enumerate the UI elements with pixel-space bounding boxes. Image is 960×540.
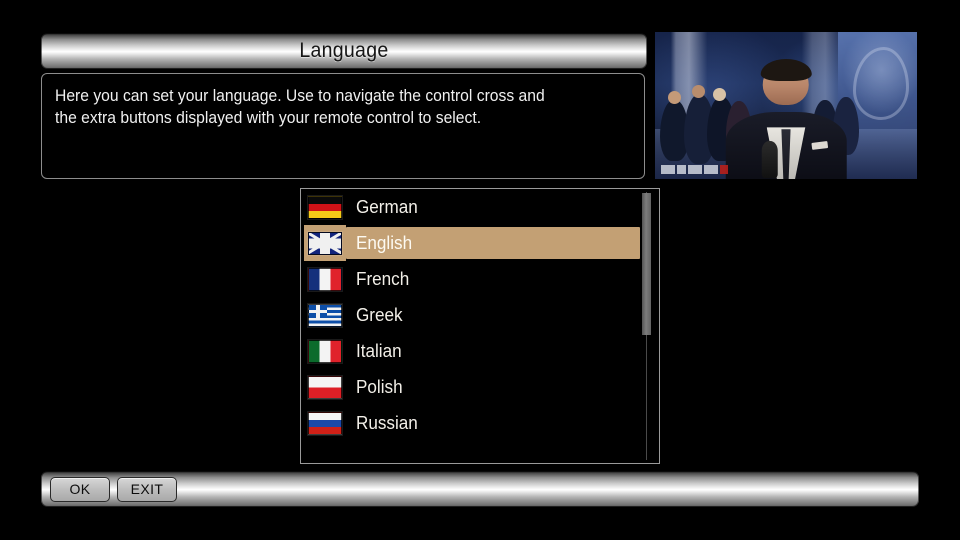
description-box: Here you can set your language. Use to n… [41, 73, 645, 179]
list-item-label: Russian [356, 413, 418, 434]
flag-it-icon [304, 333, 346, 369]
flag-gr-icon [304, 297, 346, 333]
page-title: Language [299, 39, 388, 63]
bug-segment [661, 165, 675, 174]
flag-gb-icon [304, 225, 346, 261]
video-subject-reporter [726, 88, 847, 179]
bug-segment [677, 165, 686, 174]
list-item[interactable]: French [301, 261, 645, 297]
bug-segment [688, 165, 702, 174]
list-item[interactable]: Russian [301, 405, 645, 441]
language-list-panel[interactable]: German English French [300, 188, 660, 464]
bug-segment-accent [720, 165, 728, 174]
ok-button-label: OK [69, 481, 90, 497]
flag-de-icon [304, 189, 346, 225]
list-item[interactable]: English [301, 225, 645, 261]
list-item-label: Polish [356, 377, 403, 398]
reporter-hair [761, 59, 812, 82]
list-item-label: French [356, 269, 409, 290]
scrollbar-thumb[interactable] [642, 193, 651, 335]
microphone-icon [762, 141, 778, 179]
softkey-bar: OK EXIT [41, 471, 919, 507]
list-item-label: Greek [356, 305, 403, 326]
list-item-label: English [356, 233, 412, 254]
reporter-pocket-square [811, 141, 827, 149]
description-text: Here you can set your language. Use to n… [55, 86, 602, 130]
list-item[interactable]: Polish [301, 369, 645, 405]
crowd-figure [713, 88, 726, 101]
video-preview[interactable] [655, 32, 917, 179]
exit-button[interactable]: EXIT [117, 477, 177, 502]
flag-pl-icon [304, 369, 346, 405]
channel-logo-bug [661, 164, 728, 175]
list-scrollbar[interactable] [642, 192, 651, 460]
exit-button-label: EXIT [131, 481, 164, 497]
flag-fr-icon [304, 261, 346, 297]
bug-segment [704, 165, 718, 174]
flag-ru-icon [304, 405, 346, 441]
crowd-figure [692, 85, 705, 98]
language-list: German English French [301, 189, 645, 441]
list-item-label: Italian [356, 341, 402, 362]
list-item-label: German [356, 197, 418, 218]
ok-button[interactable]: OK [50, 477, 110, 502]
title-bar: Language [41, 33, 647, 69]
list-item[interactable]: Greek [301, 297, 645, 333]
list-item[interactable]: Italian [301, 333, 645, 369]
osd-screen: Language Here you can set your language.… [0, 0, 960, 540]
list-item[interactable]: German [301, 189, 645, 225]
